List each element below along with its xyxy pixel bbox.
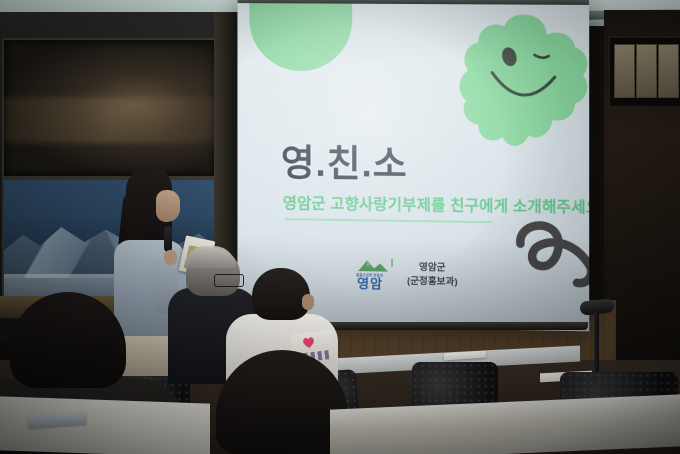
framed-certificates-display-case xyxy=(608,36,680,108)
slide-credit-block: 월출산아래 첫동네 영암 영암군 (군정홍보과) xyxy=(354,257,457,293)
certificate-frame xyxy=(614,44,635,98)
green-semicircle-shape xyxy=(249,3,352,71)
credit-text: 영암군 (군정홍보과) xyxy=(407,261,458,291)
wall-art-top-mountain-photo xyxy=(2,38,218,178)
credit-line-2: (군정홍보과) xyxy=(407,275,458,290)
logo-wordmark: 영암 xyxy=(357,277,383,290)
certificate-frame xyxy=(636,44,657,98)
presenter-face xyxy=(156,190,180,222)
green-blob-winking-smiley-mascot xyxy=(458,10,589,152)
presentation-room-photo: 영.친.소 영암군 고향사랑기부제를 친구에게 소개해주세요! 월출산아래 첫동… xyxy=(0,0,680,454)
handheld-microphone xyxy=(164,226,172,252)
pink-heart-icon xyxy=(301,336,315,349)
credit-line-1: 영암군 xyxy=(407,261,458,276)
slide-subtitle-underline xyxy=(285,218,492,223)
yeongam-logo: 월출산아래 첫동네 영암 xyxy=(354,257,398,292)
desk-microphone-stand xyxy=(594,312,599,378)
certificate-frame xyxy=(658,44,679,98)
dark-cursive-loop-flourish xyxy=(512,211,589,293)
slide-title: 영.친.소 xyxy=(281,133,408,188)
